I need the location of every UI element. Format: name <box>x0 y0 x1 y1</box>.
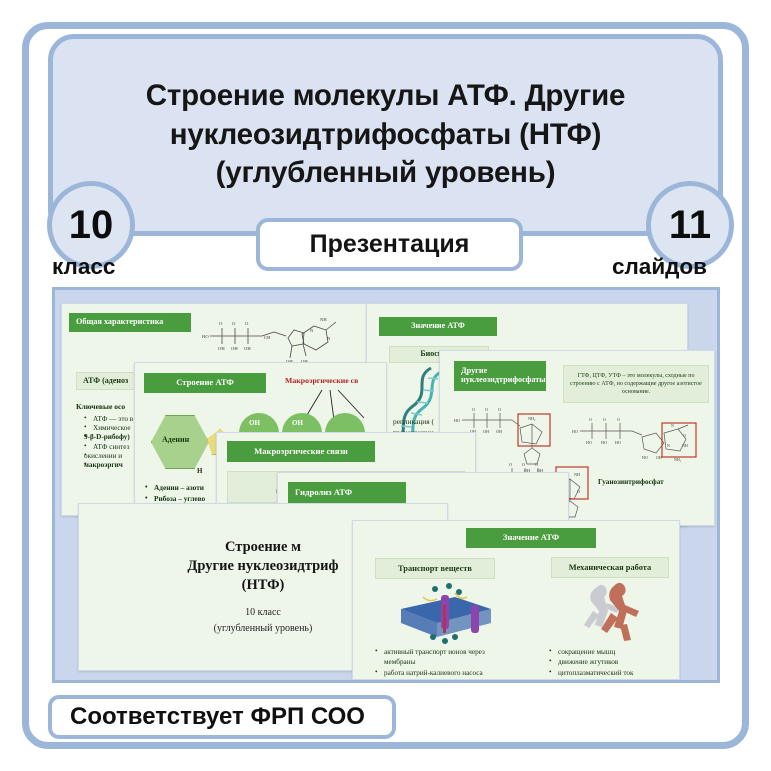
slide2-hex-label: Аденин <box>162 435 189 445</box>
svg-text:O: O <box>603 417 606 422</box>
svg-text:O: O <box>522 462 525 467</box>
svg-text:HO: HO <box>615 440 621 445</box>
list-item: активный транспорт ионов через мембраны <box>375 647 515 668</box>
list-item: движение жгутиков <box>549 657 679 667</box>
svg-text:OH: OH <box>218 346 225 351</box>
svg-text:NH₂: NH₂ <box>528 416 536 421</box>
compliance-badge: Соответствует ФРП СОО <box>48 695 396 739</box>
svg-text:O: O <box>617 417 620 422</box>
presentation-button[interactable]: Презентация <box>256 218 523 271</box>
svg-text:NH₂: NH₂ <box>674 457 682 462</box>
svg-text:O: O <box>577 489 580 494</box>
svg-text:HO: HO <box>642 455 648 460</box>
list-item: сокращение мышц <box>549 647 679 657</box>
svg-text:N: N <box>671 423 674 428</box>
slide6-label-gtp: Гуанозинтрифосфат <box>598 478 664 487</box>
slide4-header: Гидролиз АТФ <box>288 482 406 503</box>
slide7-col1-bullets: активный транспорт ионов через мембраны … <box>375 647 515 678</box>
svg-text:NH: NH <box>574 472 580 477</box>
page-title-line-2: нуклеозидтрифосфаты (НТФ) <box>146 116 626 154</box>
svg-text:N: N <box>327 336 331 341</box>
list-item: работа натрий-калиевого насоса <box>375 668 515 678</box>
slide3-header: Макроэргические связи <box>227 441 375 462</box>
svg-text:OH: OH <box>231 346 238 351</box>
svg-text:NH: NH <box>682 443 688 448</box>
slide-count-number: 11 <box>669 203 711 248</box>
list-item: цитоплазматический ток <box>549 668 679 678</box>
svg-text:OH: OH <box>244 346 251 351</box>
svg-text:O: O <box>219 321 223 326</box>
svg-text:O: O <box>509 462 512 467</box>
svg-text:O: O <box>472 407 475 412</box>
svg-text:O: O <box>589 417 592 422</box>
svg-text:N: N <box>310 328 314 333</box>
grade-number: 10 <box>69 203 114 248</box>
slide-count-caption: слайдов <box>612 254 707 280</box>
slide7-col1-title: Транспорт веществ <box>375 558 495 579</box>
svg-text:O: O <box>485 407 488 412</box>
svg-text:OH: OH <box>483 429 489 434</box>
svg-text:O: O <box>535 462 538 467</box>
running-figures-icon <box>569 581 653 645</box>
page-title-line-1: Строение молекулы АТФ. Другие <box>146 77 626 115</box>
svg-text:OH: OH <box>656 455 662 460</box>
slide1-header: Общая характеристика <box>69 313 191 332</box>
slide5-header: Значение АТФ <box>379 317 497 336</box>
slide2-header: Строение АТФ <box>144 373 266 393</box>
svg-text:NH: NH <box>320 317 327 322</box>
presentation-label: Презентация <box>310 230 470 259</box>
svg-text:O: O <box>245 321 249 326</box>
svg-text:O: O <box>498 407 501 412</box>
svg-text:HO: HO <box>586 440 592 445</box>
membrane-transport-icon <box>393 583 497 645</box>
svg-text:N: N <box>667 443 670 448</box>
slide7-header: Значение АТФ <box>466 528 596 548</box>
svg-text:HO: HO <box>454 418 460 423</box>
slide7-col2-bullets: сокращение мышц движение жгутиков цитопл… <box>549 647 679 678</box>
slide6-note-box: ГТФ, ЦТФ, УТФ – это молекулы, сходные по… <box>563 365 709 403</box>
slide2-oh-right: OH <box>292 419 303 428</box>
title-card: Строение молекулы АТФ. Другие нуклеозидт… <box>48 34 723 236</box>
svg-text:HO: HO <box>202 334 209 339</box>
slide-thumbnail-significance-transport[interactable]: Значение АТФ Транспорт веществ Механичес… <box>352 520 680 680</box>
page-title: Строение молекулы АТФ. Другие нуклеозидт… <box>100 77 672 192</box>
slide7-col2-title: Механическая работа <box>551 557 669 578</box>
slide2-h-label: H <box>197 467 202 476</box>
slide2-oh-left: OH <box>249 419 260 428</box>
grade-caption: класс <box>52 254 115 280</box>
compliance-label: Соответствует ФРП СОО <box>70 703 365 731</box>
svg-text:O: O <box>232 321 236 326</box>
svg-text:OH: OH <box>496 429 502 434</box>
svg-text:HO: HO <box>601 440 607 445</box>
svg-text:HO: HO <box>572 429 578 434</box>
slide2-macro-label: Макроэргические св <box>285 376 358 386</box>
svg-text:CH: CH <box>264 335 271 340</box>
slide6-header: Другие нуклеозидтрифосфаты <box>454 361 546 391</box>
page-title-line-3: (углубленный уровень) <box>146 154 626 192</box>
svg-text:O: O <box>683 433 686 438</box>
slide-collage[interactable]: Общая характеристика HO OOO OHOHOH CH NH… <box>52 287 720 683</box>
